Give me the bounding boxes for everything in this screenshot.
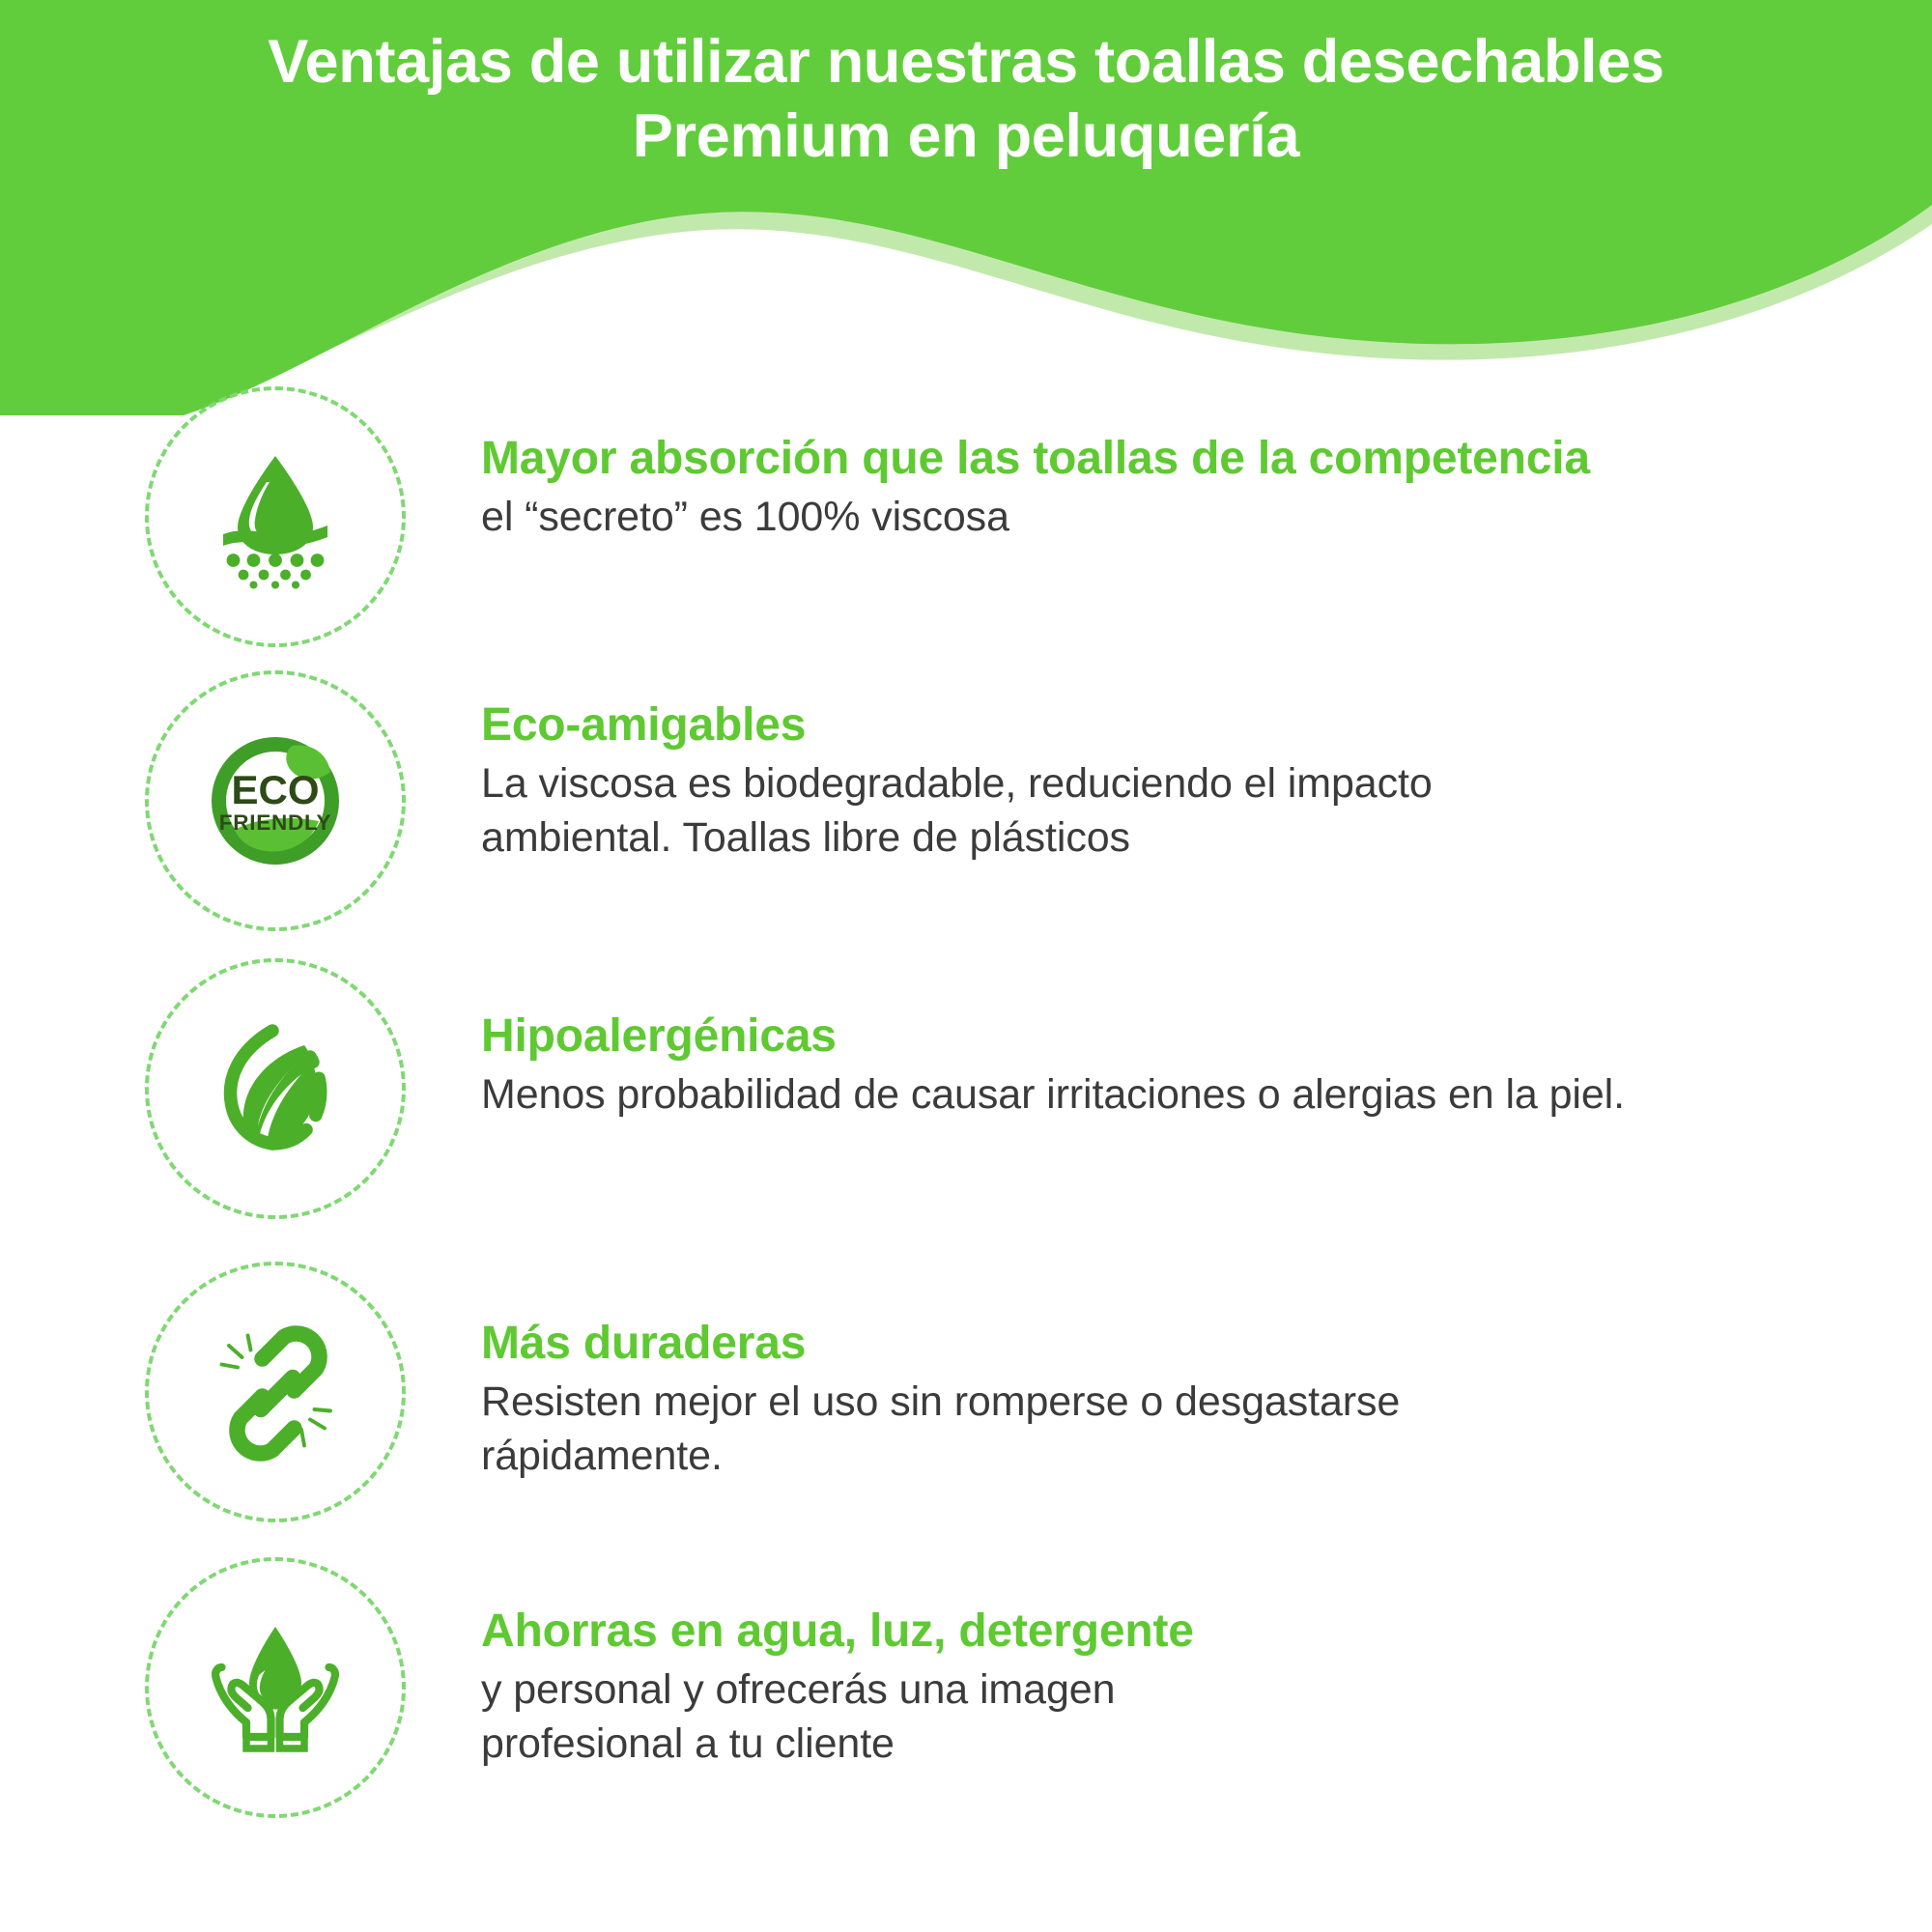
- leaf-feather-icon: [203, 1016, 348, 1161]
- feature-description: el “secreto” es 100% viscosa: [481, 491, 1893, 545]
- feature-text-block: Eco-amigables La viscosa es biodegradabl…: [406, 670, 1932, 866]
- feature-description: Resisten mejor el uso sin romperse o des…: [481, 1376, 1524, 1484]
- feature-row: Mayor absorción que las toallas de la co…: [0, 386, 1932, 647]
- eco-friendly-badge-icon: ECO FRIENDLY: [203, 728, 348, 873]
- feature-description: Menos probabilidad de causar irritacione…: [481, 1068, 1893, 1122]
- feature-text-block: Hipoalergénicas Menos probabilidad de ca…: [406, 958, 1932, 1122]
- eco-badge-line-2: FRIENDLY: [219, 810, 331, 835]
- feature-title: Mayor absorción que las toallas de la co…: [481, 433, 1893, 485]
- water-drop-absorption-icon: [203, 444, 348, 589]
- page-title-line-2: Premium en peluquería: [68, 99, 1864, 174]
- feature-icon-container: [145, 958, 406, 1219]
- eco-badge-line-1: ECO: [231, 767, 319, 812]
- feature-text-block: Ahorras en agua, luz, detergente y perso…: [406, 1557, 1932, 1772]
- feature-icon-container: [145, 1262, 406, 1522]
- feature-row: Hipoalergénicas Menos probabilidad de ca…: [0, 958, 1932, 1219]
- feature-text-block: Mayor absorción que las toallas de la co…: [406, 386, 1932, 545]
- feature-title: Hipoalergénicas: [481, 1010, 1893, 1063]
- chain-link-icon: [203, 1320, 348, 1464]
- page-title: Ventajas de utilizar nuestras toallas de…: [0, 25, 1932, 174]
- feature-title: Ahorras en agua, luz, detergente: [481, 1605, 1893, 1658]
- feature-icon-container: [145, 1557, 406, 1818]
- feature-row: ECO FRIENDLY Eco-amigables La viscosa es…: [0, 670, 1932, 931]
- feature-title: Más duraderas: [481, 1318, 1893, 1370]
- hands-holding-drop-icon: [203, 1615, 348, 1760]
- feature-title: Eco-amigables: [481, 699, 1893, 752]
- feature-text-block: Más duraderas Resisten mejor el uso sin …: [406, 1262, 1932, 1484]
- feature-row: Ahorras en agua, luz, detergente y perso…: [0, 1557, 1932, 1818]
- feature-icon-container: [145, 386, 406, 647]
- features-list: Mayor absorción que las toallas de la co…: [0, 386, 1932, 1818]
- feature-icon-container: ECO FRIENDLY: [145, 670, 406, 931]
- page-title-line-1: Ventajas de utilizar nuestras toallas de…: [68, 25, 1864, 99]
- feature-description: y personal y ofrecerás una imagen profes…: [481, 1663, 1312, 1772]
- feature-description: La viscosa es biodegradable, reduciendo …: [481, 757, 1573, 866]
- feature-row: Más duraderas Resisten mejor el uso sin …: [0, 1262, 1932, 1522]
- infographic-poster: Ventajas de utilizar nuestras toallas de…: [0, 0, 1932, 1932]
